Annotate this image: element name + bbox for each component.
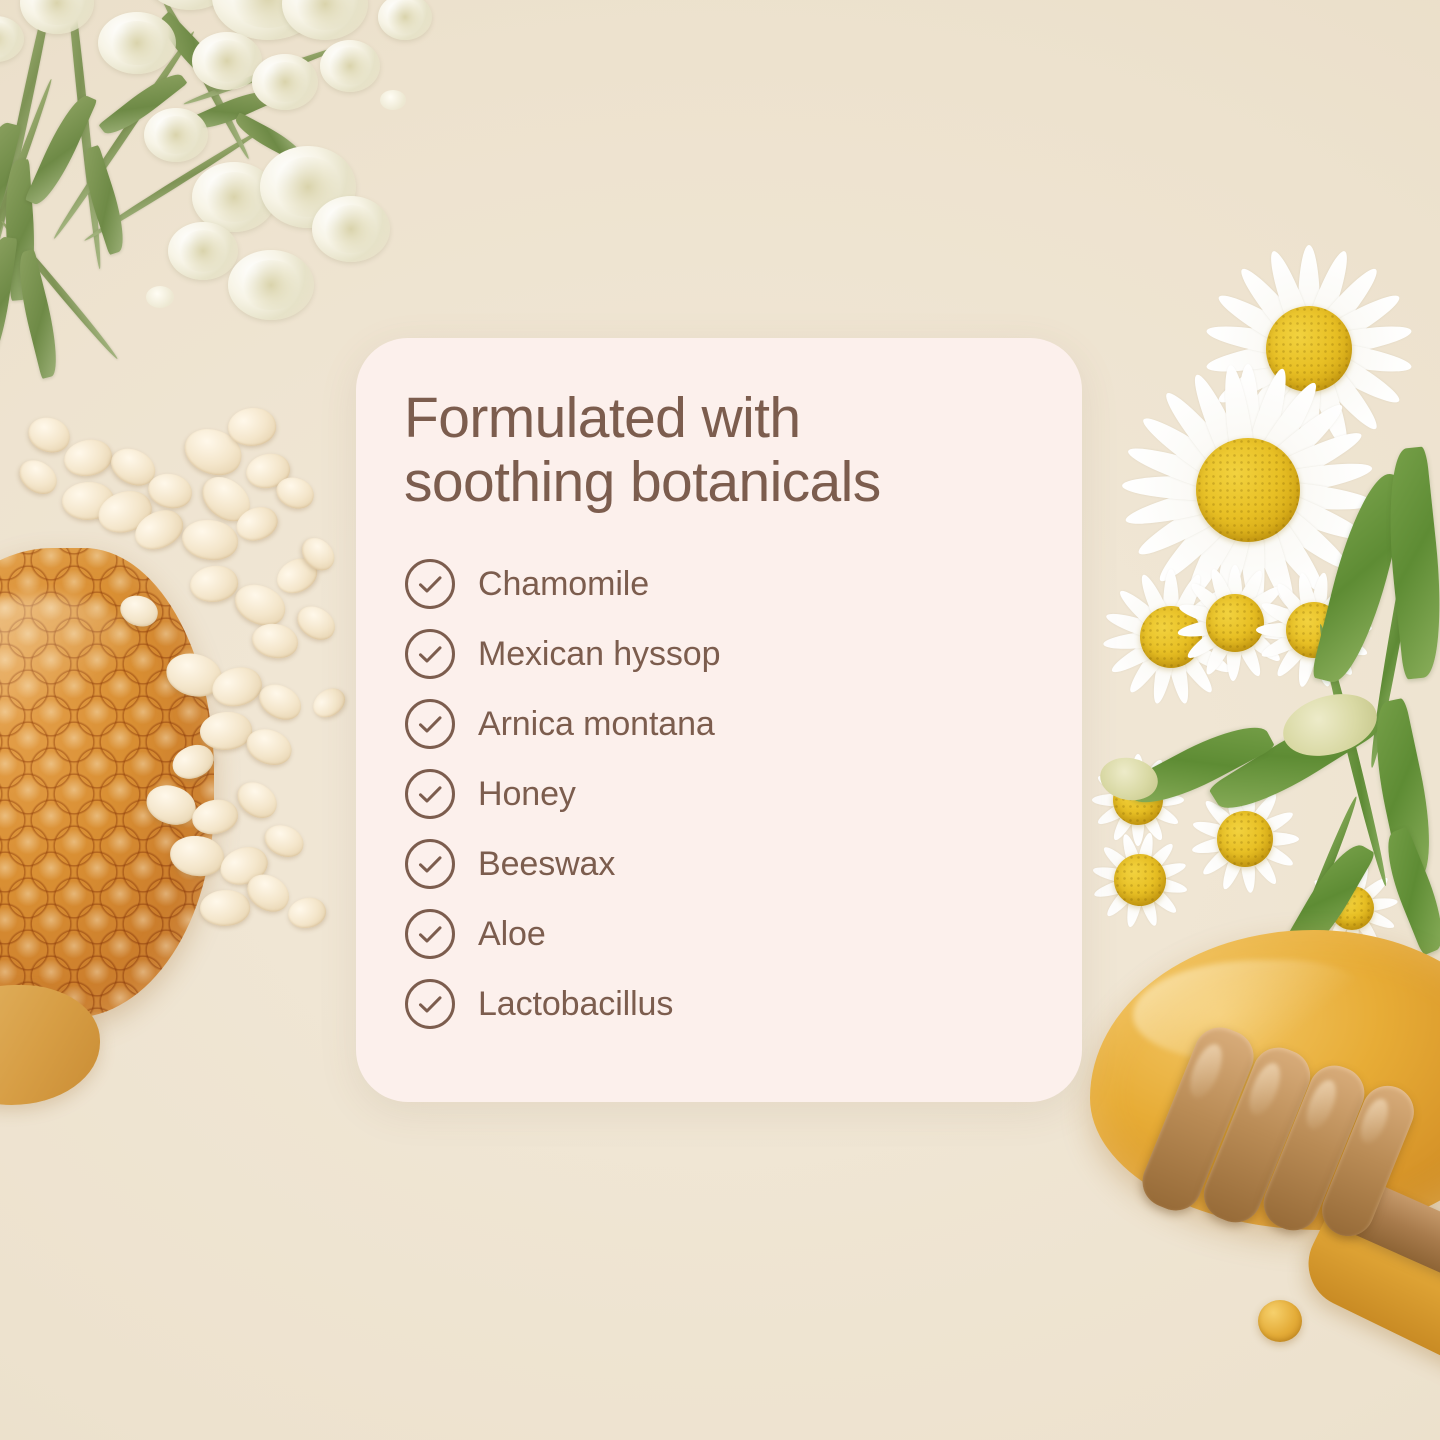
list-item[interactable]: Lactobacillus (404, 969, 1026, 1039)
ingredient-label: Lactobacillus (478, 987, 673, 1021)
ingredient-label: Arnica montana (478, 707, 715, 741)
ingredient-label: Aloe (478, 917, 546, 951)
list-item[interactable]: Arnica montana (404, 689, 1026, 759)
page-title: Formulated with soothing botanicals (404, 386, 1026, 515)
product-ingredient-graphic: Formulated with soothing botanicals Cham… (0, 0, 1440, 1440)
daisy-center (1217, 811, 1273, 867)
list-item[interactable]: Aloe (404, 899, 1026, 969)
ingredients-card: Formulated with soothing botanicals Cham… (356, 338, 1082, 1102)
check-circle-icon (404, 838, 456, 890)
daisy-center (1196, 438, 1300, 542)
list-item[interactable]: Beeswax (404, 829, 1026, 899)
list-item[interactable]: Honey (404, 759, 1026, 829)
check-circle-icon (404, 698, 456, 750)
ingredient-label: Chamomile (478, 567, 649, 601)
ingredients-list: Chamomile Mexican hyssop Arnica montana (404, 549, 1026, 1039)
ingredient-label: Beeswax (478, 847, 615, 881)
list-item[interactable]: Chamomile (404, 549, 1026, 619)
check-circle-icon (404, 978, 456, 1030)
check-circle-icon (404, 908, 456, 960)
ingredient-label: Mexican hyssop (478, 637, 720, 671)
check-circle-icon (404, 628, 456, 680)
list-item[interactable]: Mexican hyssop (404, 619, 1026, 689)
check-circle-icon (404, 768, 456, 820)
daisy-center (1114, 854, 1166, 906)
honey-droplet-decor (1258, 1300, 1302, 1342)
ingredient-label: Honey (478, 777, 576, 811)
check-circle-icon (404, 558, 456, 610)
